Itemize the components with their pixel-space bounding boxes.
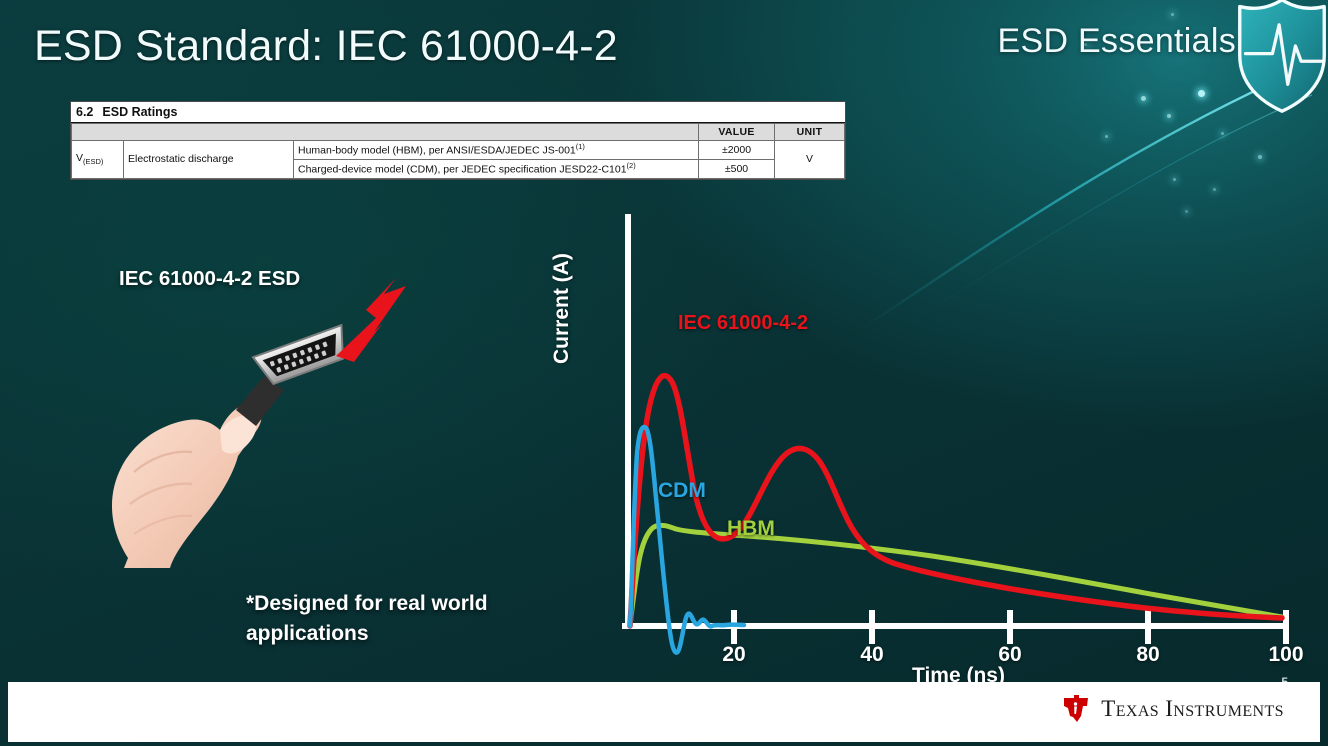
particle-dot <box>1221 132 1224 135</box>
page-title: ESD Standard: IEC 61000-4-2 <box>34 22 618 71</box>
cell-description: Human-body model (HBM), per ANSI/ESDA/JE… <box>294 141 699 160</box>
header-empty-description <box>294 124 699 141</box>
x-tick-label: 20 <box>722 643 745 667</box>
symbol-subscript: (ESD) <box>83 157 103 166</box>
table-section-title: 6.2ESD Ratings <box>71 102 845 123</box>
table-row: V(ESD) Electrostatic discharge Human-bod… <box>72 141 845 160</box>
footnote-marker: (2) <box>627 161 636 170</box>
footer-bar: Texas Instruments <box>8 682 1320 742</box>
table-section-name: ESD Ratings <box>102 105 177 119</box>
curve-label-iec: IEC 61000-4-2 <box>678 312 808 335</box>
description-text: Human-body model (HBM), per ANSI/ESDA/JE… <box>298 145 576 157</box>
shield-pulse-icon <box>1234 0 1328 116</box>
header-empty-symbol <box>72 124 124 141</box>
footnote-marker: (1) <box>576 142 585 151</box>
particle-dot <box>1213 188 1216 191</box>
brand-label: ESD Essentials <box>997 22 1236 61</box>
table-header-row: VALUE UNIT <box>72 124 845 141</box>
texas-logo-icon <box>1060 694 1092 724</box>
x-tick-label: 60 <box>998 643 1021 667</box>
illustration-note: *Designed for real world applications <box>246 589 546 650</box>
hand-with-hdmi-connector-illustration <box>88 258 428 568</box>
description-text: Charged-device model (CDM), per JEDEC sp… <box>298 163 627 175</box>
particle-dot <box>1171 13 1174 16</box>
x-tick-label: 100 <box>1268 643 1303 667</box>
table-section-number: 6.2 <box>76 105 93 119</box>
slide: ESD Standard: IEC 61000-4-2 ESD Essentia… <box>0 0 1328 746</box>
particle-dot <box>1105 135 1108 138</box>
cell-description: Charged-device model (CDM), per JEDEC sp… <box>294 159 699 178</box>
particle-dot <box>1141 96 1146 101</box>
ti-company-name: Texas Instruments <box>1101 696 1284 722</box>
cell-symbol: V(ESD) <box>72 141 124 179</box>
esd-waveform-chart: IEC 61000-4-2 CDM HBM Current (A) Time (… <box>560 196 1300 696</box>
curve-label-hbm: HBM <box>727 517 775 541</box>
cell-unit: V <box>775 141 845 179</box>
particle-dot <box>1198 90 1205 97</box>
cell-parameter: Electrostatic discharge <box>124 141 294 179</box>
lightning-bolt-icon <box>336 278 406 362</box>
ti-logo: Texas Instruments <box>1060 694 1284 724</box>
esd-ratings-table: 6.2ESD Ratings VALUE UNIT V(ESD) Electro… <box>70 101 846 180</box>
y-axis-label: Current (A) <box>550 253 574 364</box>
particle-dot <box>1167 114 1171 118</box>
cell-value: ±500 <box>699 159 775 178</box>
particle-dot <box>1258 155 1262 159</box>
header-empty-parameter <box>124 124 294 141</box>
curve-label-cdm: CDM <box>658 479 706 503</box>
x-tick-label: 80 <box>1136 643 1159 667</box>
curve-iec <box>630 376 1282 626</box>
x-tick-label: 40 <box>860 643 883 667</box>
chart-svg <box>560 196 1300 696</box>
header-value: VALUE <box>699 124 775 141</box>
cell-value: ±2000 <box>699 141 775 160</box>
symbol-main: V <box>76 152 83 164</box>
header-unit: UNIT <box>775 124 845 141</box>
particle-dot <box>1173 178 1176 181</box>
